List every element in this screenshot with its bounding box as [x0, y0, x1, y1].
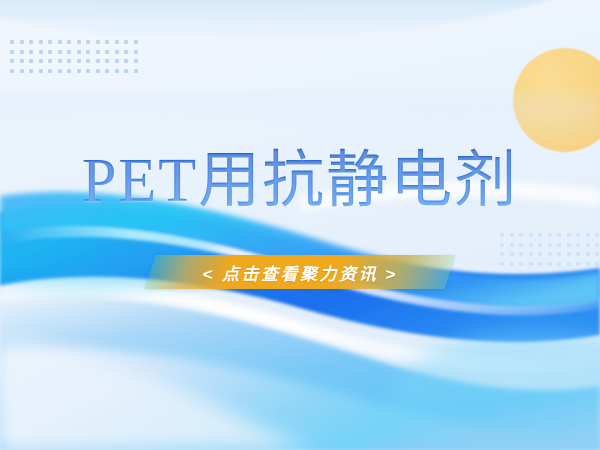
dot	[557, 243, 561, 247]
dot	[20, 40, 24, 44]
dot	[576, 233, 580, 237]
cta-banner[interactable]: < 点击查看聚力资讯 >	[144, 255, 455, 289]
dot	[519, 262, 523, 266]
dot	[39, 59, 43, 63]
dot	[124, 59, 128, 63]
dot	[105, 59, 109, 63]
dot	[595, 233, 599, 237]
dot	[77, 69, 81, 73]
dot	[586, 252, 590, 256]
dot	[595, 252, 599, 256]
dot	[20, 59, 24, 63]
dot	[29, 69, 33, 73]
dot	[29, 50, 33, 54]
dot	[115, 50, 119, 54]
dot	[67, 69, 71, 73]
banner-title: PET用抗静电剂	[0, 142, 600, 220]
dot	[500, 233, 504, 237]
dot	[67, 59, 71, 63]
dot	[48, 59, 52, 63]
dot	[48, 50, 52, 54]
dot	[124, 50, 128, 54]
dot	[500, 262, 504, 266]
dot	[538, 262, 542, 266]
dot-grid-right	[500, 233, 600, 275]
dot	[105, 40, 109, 44]
dot	[86, 69, 90, 73]
dot	[510, 233, 514, 237]
dot	[595, 243, 599, 247]
dot	[576, 243, 580, 247]
dot	[557, 252, 561, 256]
dot	[557, 262, 561, 266]
dot	[10, 40, 14, 44]
dot	[77, 40, 81, 44]
dot	[529, 243, 533, 247]
dot	[39, 50, 43, 54]
dot	[519, 233, 523, 237]
dot	[586, 262, 590, 266]
dot	[529, 252, 533, 256]
dot	[134, 50, 138, 54]
dot	[86, 59, 90, 63]
dot	[115, 69, 119, 73]
dot	[48, 40, 52, 44]
dot	[29, 40, 33, 44]
dot	[548, 252, 552, 256]
dot	[124, 69, 128, 73]
dot	[58, 50, 62, 54]
dot	[519, 243, 523, 247]
dot	[538, 243, 542, 247]
dot	[529, 262, 533, 266]
dot	[529, 233, 533, 237]
dot	[567, 252, 571, 256]
dot	[519, 252, 523, 256]
dot	[39, 69, 43, 73]
dot	[96, 40, 100, 44]
dot-grid-left	[10, 40, 150, 86]
dot	[20, 50, 24, 54]
blue-arc-decoration	[0, 0, 600, 40]
dot	[134, 40, 138, 44]
dot	[105, 69, 109, 73]
dot	[538, 252, 542, 256]
dot	[124, 40, 128, 44]
dot	[538, 233, 542, 237]
dot	[567, 262, 571, 266]
dot	[20, 69, 24, 73]
cta-inner: < 点击查看聚力资讯 >	[150, 255, 450, 289]
dot	[96, 69, 100, 73]
dot	[500, 252, 504, 256]
dot	[58, 40, 62, 44]
dot	[567, 243, 571, 247]
dot	[510, 243, 514, 247]
dot	[500, 243, 504, 247]
dot	[58, 59, 62, 63]
dot	[115, 59, 119, 63]
dot	[548, 233, 552, 237]
dot	[557, 233, 561, 237]
dot	[86, 50, 90, 54]
dot	[96, 59, 100, 63]
dot	[77, 59, 81, 63]
dot	[96, 50, 100, 54]
dot	[115, 40, 119, 44]
dot	[134, 69, 138, 73]
dot	[576, 252, 580, 256]
dot	[105, 50, 109, 54]
promo-banner: PET用抗静电剂 < 点击查看聚力资讯 >	[0, 0, 600, 450]
dot	[510, 262, 514, 266]
cta-label: < 点击查看聚力资讯 >	[202, 260, 397, 285]
dot	[48, 69, 52, 73]
dot	[67, 40, 71, 44]
dot	[595, 262, 599, 266]
dot	[567, 233, 571, 237]
dot	[10, 59, 14, 63]
dot	[548, 262, 552, 266]
dot	[548, 243, 552, 247]
dot	[39, 40, 43, 44]
dot	[586, 233, 590, 237]
dot	[29, 59, 33, 63]
dot	[586, 243, 590, 247]
dot	[10, 69, 14, 73]
dot	[86, 40, 90, 44]
banner-title-text: PET用抗静电剂	[82, 142, 518, 220]
dot	[58, 69, 62, 73]
dot	[10, 50, 14, 54]
dot	[576, 262, 580, 266]
yellow-circle-icon	[513, 48, 600, 152]
dot	[510, 252, 514, 256]
dot	[134, 59, 138, 63]
dot	[77, 50, 81, 54]
dot	[67, 50, 71, 54]
